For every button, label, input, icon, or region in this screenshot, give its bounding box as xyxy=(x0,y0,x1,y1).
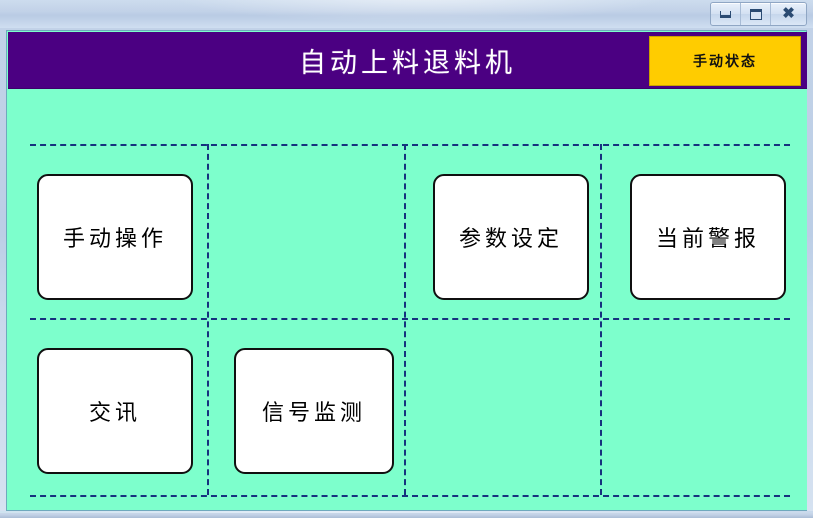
panel-button-4[interactable]: 信号监测 xyxy=(234,348,394,474)
gridline-vertical-0 xyxy=(207,144,209,495)
window-controls: ✖ xyxy=(710,2,807,26)
titlebar-sheen xyxy=(0,0,813,28)
minimize-icon xyxy=(720,11,731,18)
maximize-icon xyxy=(750,9,762,20)
minimize-button[interactable] xyxy=(711,3,741,25)
window-titlebar: ✖ xyxy=(0,0,813,28)
app-header: 自动上料退料机 手动状态 xyxy=(8,32,807,90)
gridline-horizontal-0 xyxy=(30,144,790,146)
gridline-vertical-2 xyxy=(600,144,602,495)
main-content: 手动操作参数设定当前警报交讯信号监测 xyxy=(8,89,807,510)
maximize-button[interactable] xyxy=(741,3,771,25)
window-bottom-chrome xyxy=(0,511,813,518)
gridline-horizontal-2 xyxy=(30,495,790,497)
close-button[interactable]: ✖ xyxy=(771,3,806,25)
panel-button-2[interactable]: 当前警报 xyxy=(630,174,786,300)
window-bottom-highlight xyxy=(0,511,813,513)
gridline-horizontal-1 xyxy=(30,318,790,320)
panel-button-3[interactable]: 交讯 xyxy=(37,348,193,474)
panel-button-1[interactable]: 参数设定 xyxy=(433,174,589,300)
panel-button-0[interactable]: 手动操作 xyxy=(37,174,193,300)
hmi-screen: 自动上料退料机 手动状态 手动操作参数设定当前警报交讯信号监测 xyxy=(6,30,807,511)
application-window: ✖ 自动上料退料机 手动状态 手动操作参数设定当前警报交讯信号监测 xyxy=(0,0,813,518)
gridline-vertical-1 xyxy=(404,144,406,495)
close-icon: ✖ xyxy=(782,7,795,22)
status-badge-manual-mode[interactable]: 手动状态 xyxy=(649,36,801,86)
